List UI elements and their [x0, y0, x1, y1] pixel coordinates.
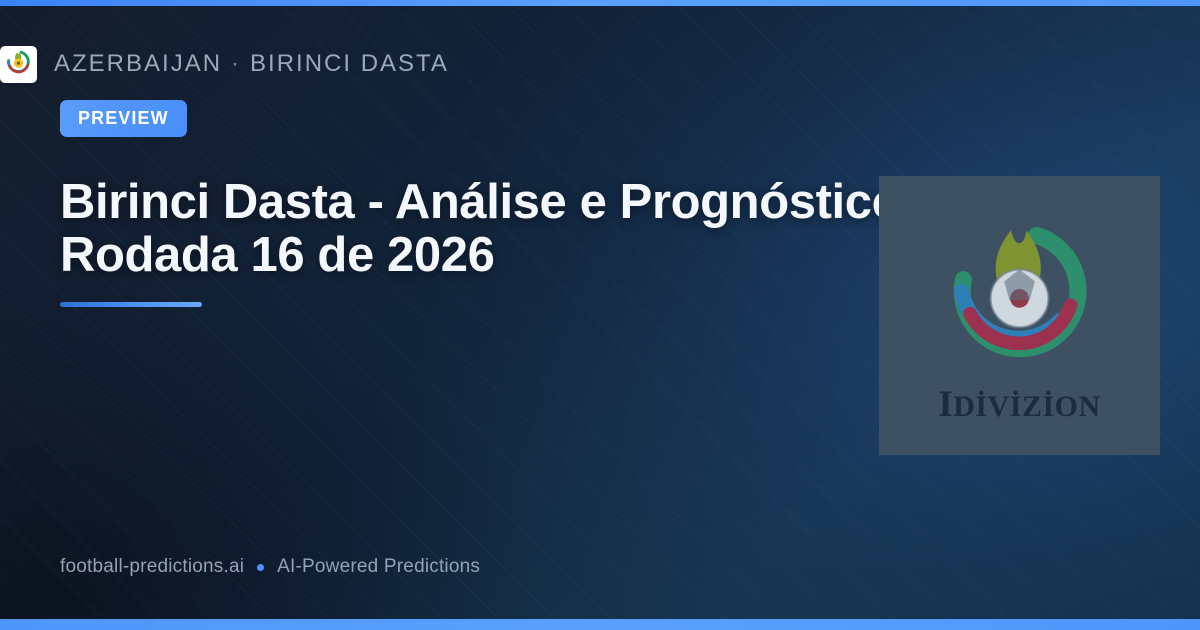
bottom-accent-bar: [0, 619, 1200, 630]
league-wordmark: IDİVİZİON: [938, 386, 1100, 423]
bullet-dot-icon: [257, 564, 264, 571]
footer: football-predictions.ai AI-Powered Predi…: [60, 556, 480, 578]
league-wordmark-first: I: [938, 384, 953, 425]
azerbaijan-first-division-crest-icon: [932, 215, 1107, 380]
og-preview-card: AZERBAIJAN·BIRINCI DASTA PREVIEW Birinci…: [0, 0, 1200, 630]
top-accent-bar: [0, 0, 1200, 6]
breadcrumb-country: AZERBAIJAN: [54, 50, 222, 77]
breadcrumb: AZERBAIJAN·BIRINCI DASTA: [0, 45, 449, 83]
breadcrumb-separator: ·: [222, 50, 250, 77]
footer-site-name: football-predictions.ai: [60, 556, 244, 578]
footer-tagline: AI-Powered Predictions: [277, 556, 480, 578]
league-crest-icon: [0, 46, 37, 83]
breadcrumb-league: BIRINCI DASTA: [250, 50, 449, 77]
title-accent-underline: [60, 302, 202, 307]
breadcrumb-text: AZERBAIJAN·BIRINCI DASTA: [54, 50, 449, 78]
status-badge-preview: PREVIEW: [60, 100, 187, 137]
league-wordmark-rest: DİVİZİON: [953, 390, 1100, 423]
league-logo-panel: IDİVİZİON: [879, 176, 1160, 455]
